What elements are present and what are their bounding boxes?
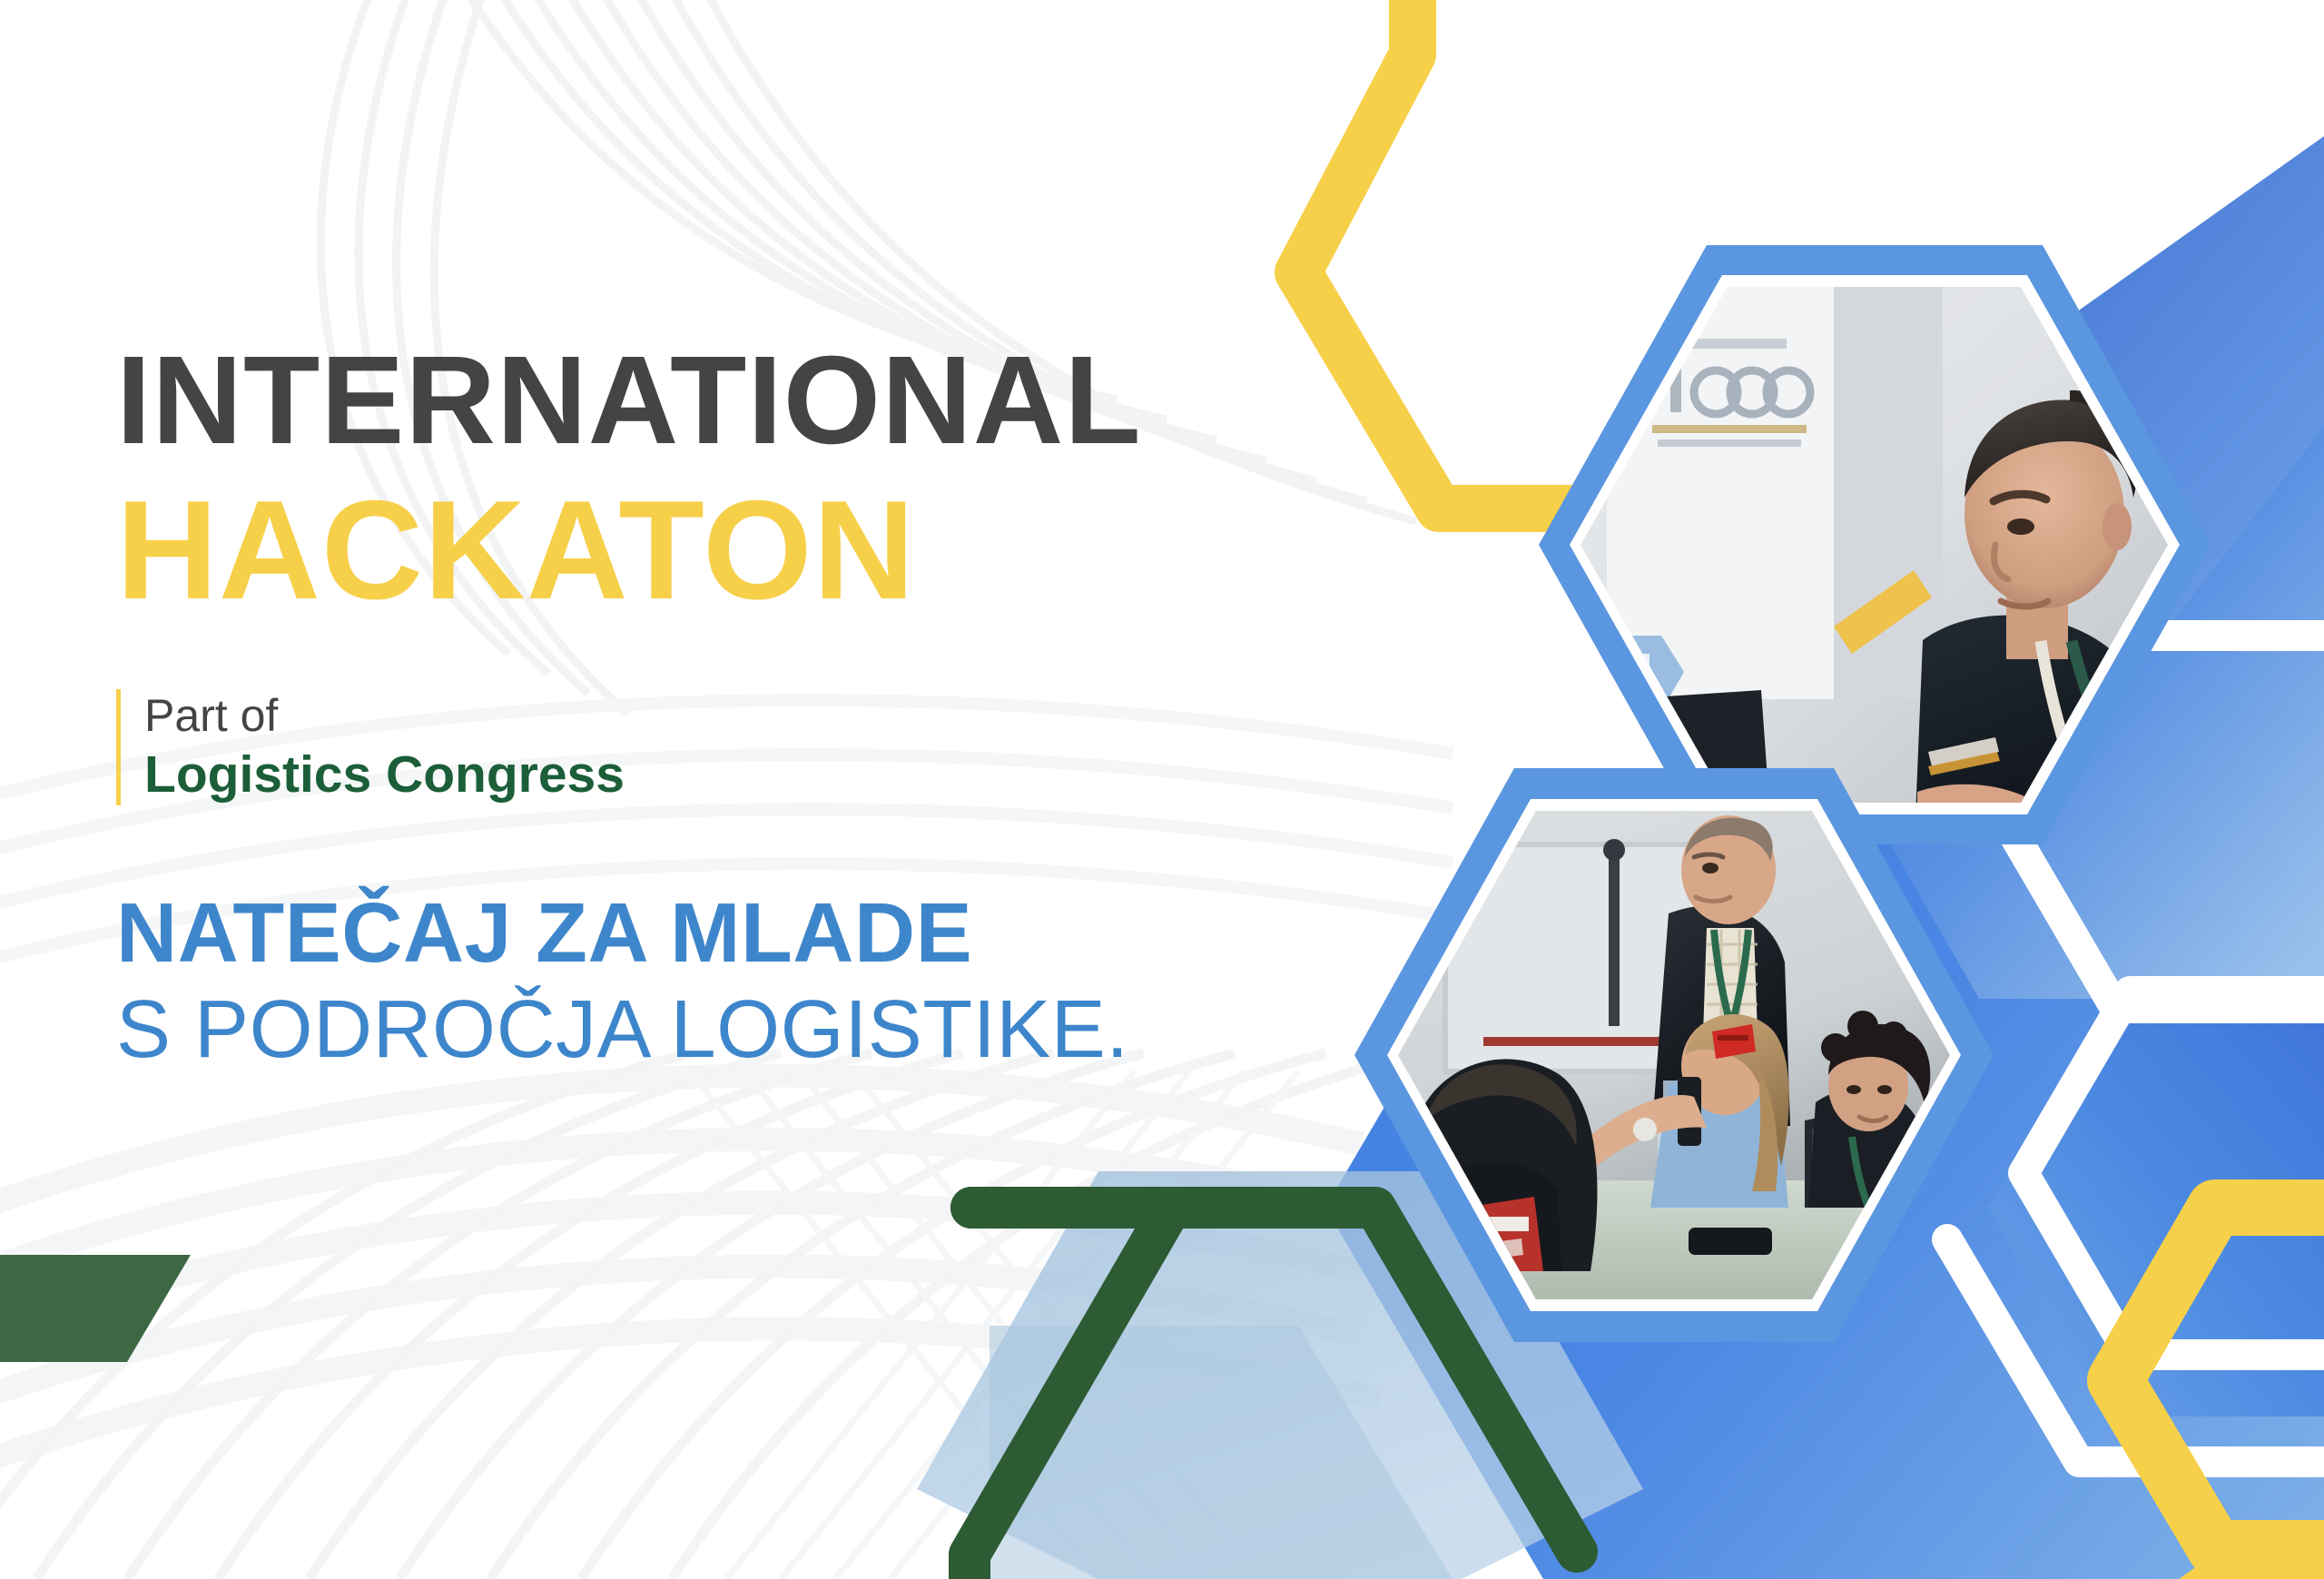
yellow-hexagon-outline-right bbox=[2115, 1208, 2324, 1548]
blue-gradient-hexagon-cluster-right bbox=[1325, 136, 2324, 1579]
headline-line-2: HACKATON bbox=[116, 479, 1324, 620]
headline-line-1: INTERNATIONAL bbox=[116, 338, 1324, 463]
part-of-block: Part of Logistics Congress bbox=[116, 689, 1324, 805]
green-hexagon-outline-bottom bbox=[971, 1208, 1577, 1552]
hexagon-photo-team bbox=[1354, 768, 1994, 1342]
part-of-texts: Part of Logistics Congress bbox=[144, 689, 625, 805]
headline-block: INTERNATIONAL HACKATON Part of Logistics… bbox=[116, 338, 1324, 1072]
tagline-line-2: S PODROČJA LOGISTIKE. bbox=[116, 987, 1324, 1073]
translucent-blue-hexagon-bottom bbox=[917, 1171, 1643, 1579]
tagline-line-1: NATEČAJ ZA MLADE bbox=[116, 889, 1324, 978]
part-of-label: Part of bbox=[144, 689, 625, 743]
yellow-hexagon-outline-top bbox=[1298, 0, 1598, 508]
hexagon-photo-man-laptop bbox=[1539, 245, 2211, 844]
part-of-organization: Logistics Congress bbox=[144, 745, 625, 805]
poster-canvas: INTERNATIONAL HACKATON Part of Logistics… bbox=[0, 0, 2324, 1579]
accent-bar-icon bbox=[116, 689, 121, 805]
